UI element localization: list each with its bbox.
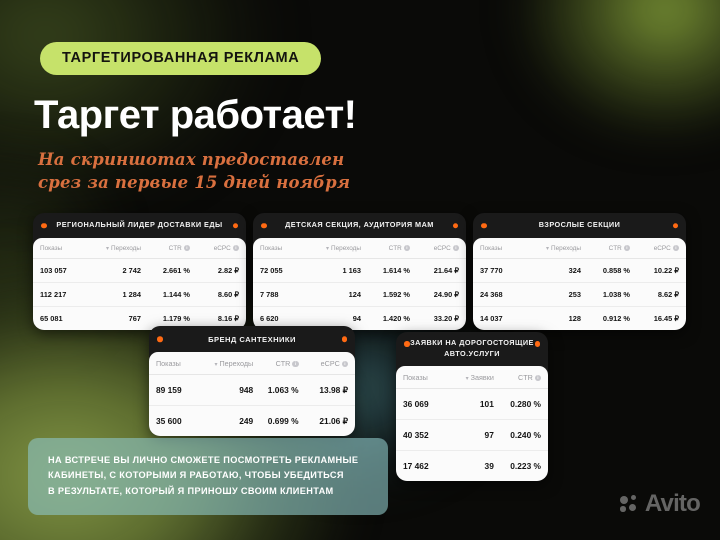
stats-table: Показы ▾Переходы CTRi eCPCi 89 159 948 1… [149,352,355,436]
cell-ecpc: 16.45 ₽ [637,307,686,331]
cell-impressions: 35 600 [149,406,203,437]
stats-card-plumbing-brand: БРЕНД САНТЕХНИКИ Показы ▾Переходы CTRi e… [149,326,355,436]
cell-ctr: 1.063 % [260,375,305,406]
col-ecpc[interactable]: eCPCi [197,238,246,259]
table-header-row: Показы ▾Переходы CTRi eCPCi [253,238,466,259]
cell-impressions: 36 069 [396,389,451,420]
cell-ecpc: 21.64 ₽ [417,259,466,283]
col-impressions[interactable]: Показы [396,366,451,389]
card-title-line2: АВТО.УСЛУГИ [444,349,500,360]
accent-dot-right-icon [673,223,679,229]
cell-ecpc: 8.60 ₽ [197,283,246,307]
card-title: РЕГИОНАЛЬНЫЙ ЛИДЕР ДОСТАВКИ ЕДЫ [56,220,222,231]
cell-leads: 39 [451,451,501,482]
cell-ctr: 0.280 % [501,389,548,420]
info-icon: i [404,245,410,251]
table-row: 35 600 249 0.699 % 21.06 ₽ [149,406,355,437]
col-impressions[interactable]: Показы [253,238,311,259]
cell-ctr: 1.038 % [588,283,637,307]
col-clicks[interactable]: ▾Переходы [203,352,261,375]
stats-card-kids-section: ДЕТСКАЯ СЕКЦИЯ, АУДИТОРИЯ МАМ Показы ▾Пе… [253,213,466,330]
table-row: 7 788 124 1.592 % 24.90 ₽ [253,283,466,307]
table-row: 14 037 128 0.912 % 16.45 ₽ [473,307,686,331]
background-glow-top-right [515,0,720,140]
cell-ctr: 0.858 % [588,259,637,283]
avito-logo-icon [620,495,640,513]
cell-impressions: 40 352 [396,420,451,451]
category-badge: ТАРГЕТИРОВАННАЯ РЕКЛАМА [40,42,321,75]
info-icon: i [624,245,630,251]
stats-table: Показы ▾Заявки CTRi 36 069 101 0.280 % 4… [396,366,548,481]
col-impressions[interactable]: Показы [473,238,531,259]
col-leads[interactable]: ▾Заявки [451,366,501,389]
col-impressions[interactable]: Показы [33,238,91,259]
cell-ctr: 0.699 % [260,406,305,437]
cell-clicks: 128 [531,307,589,331]
table-row: 89 159 948 1.063 % 13.98 ₽ [149,375,355,406]
cell-leads: 97 [451,420,501,451]
table-row: 36 069 101 0.280 % [396,389,548,420]
table-header-row: Показы ▾Переходы CTRi eCPCi [33,238,246,259]
card-header: ЗАЯВКИ НА ДОРОГОСТОЯЩИЕ АВТО.УСЛУГИ [396,332,548,366]
info-icon: i [292,361,298,367]
cell-leads: 101 [451,389,501,420]
cell-ctr: 0.240 % [501,420,548,451]
cell-ecpc: 13.98 ₽ [306,375,355,406]
cell-ecpc: 8.62 ₽ [637,283,686,307]
cell-ecpc: 24.90 ₽ [417,283,466,307]
sort-caret-icon: ▾ [466,376,469,382]
slide-root: ТАРГЕТИРОВАННАЯ РЕКЛАМА Таргет работает!… [0,0,720,540]
table-row: 37 770 324 0.858 % 10.22 ₽ [473,259,686,283]
cell-impressions: 65 081 [33,307,91,331]
stats-card-food-delivery: РЕГИОНАЛЬНЫЙ ЛИДЕР ДОСТАВКИ ЕДЫ Показы ▾… [33,213,246,330]
accent-dot-right-icon [535,341,541,347]
avito-wordmark: Avito [645,492,700,516]
card-header: ДЕТСКАЯ СЕКЦИЯ, АУДИТОРИЯ МАМ [253,213,466,238]
cell-impressions: 72 055 [253,259,311,283]
cell-clicks: 324 [531,259,589,283]
subtitle-note: На скриншотах предоставлен срез за первы… [38,148,350,195]
avito-watermark: Avito [620,492,700,516]
accent-dot-left-icon [157,336,163,342]
col-impressions[interactable]: Показы [149,352,203,375]
cell-impressions: 17 462 [396,451,451,482]
card-header: БРЕНД САНТЕХНИКИ [149,326,355,352]
sort-caret-icon: ▾ [106,246,109,252]
cell-ctr: 0.223 % [501,451,548,482]
cell-ecpc: 2.82 ₽ [197,259,246,283]
col-clicks[interactable]: ▾Переходы [531,238,589,259]
cell-clicks: 1 284 [91,283,149,307]
cell-clicks: 2 742 [91,259,149,283]
cell-impressions: 103 057 [33,259,91,283]
cell-clicks: 249 [203,406,261,437]
accent-dot-right-icon [342,336,348,342]
card-title: БРЕНД САНТЕХНИКИ [208,334,296,345]
cell-impressions: 24 368 [473,283,531,307]
col-ecpc[interactable]: eCPCi [637,238,686,259]
stats-table: Показы ▾Переходы CTRi eCPCi 72 055 1 163… [253,238,466,330]
sort-caret-icon: ▾ [546,246,549,252]
accent-dot-left-icon [41,223,47,229]
stats-table: Показы ▾Переходы CTRi eCPCi 103 057 2 74… [33,238,246,330]
card-header: РЕГИОНАЛЬНЫЙ ЛИДЕР ДОСТАВКИ ЕДЫ [33,213,246,238]
accent-dot-left-icon [481,223,487,229]
info-icon: i [342,361,348,367]
stats-table: Показы ▾Переходы CTRi eCPCi 37 770 324 0… [473,238,686,330]
accent-dot-right-icon [233,223,239,229]
stats-card-auto-services: ЗАЯВКИ НА ДОРОГОСТОЯЩИЕ АВТО.УСЛУГИ Пока… [396,332,548,481]
table-row: 24 368 253 1.038 % 8.62 ₽ [473,283,686,307]
cell-clicks: 1 163 [311,259,369,283]
table-row: 72 055 1 163 1.614 % 21.64 ₽ [253,259,466,283]
table-header-row: Показы ▾Переходы CTRi eCPCi [149,352,355,375]
card-title: ДЕТСКАЯ СЕКЦИЯ, АУДИТОРИЯ МАМ [285,220,434,231]
accent-dot-right-icon [453,223,459,229]
col-clicks[interactable]: ▾Переходы [311,238,369,259]
sort-caret-icon: ▾ [326,246,329,252]
info-icon: i [673,245,679,251]
cell-clicks: 124 [311,283,369,307]
sort-caret-icon: ▾ [214,362,217,368]
footer-banner: НА ВСТРЕЧЕ ВЫ ЛИЧНО СМОЖЕТЕ ПОСМОТРЕТЬ Р… [28,438,388,515]
col-clicks[interactable]: ▾Переходы [91,238,149,259]
card-title-line1: ЗАЯВКИ НА ДОРОГОСТОЯЩИЕ [410,338,534,349]
stats-card-adult-sections: ВЗРОСЛЫЕ СЕКЦИИ Показы ▾Переходы CTRi eC… [473,213,686,330]
cell-clicks: 767 [91,307,149,331]
accent-dot-left-icon [404,341,410,347]
cell-ecpc: 33.20 ₽ [417,307,466,331]
cell-impressions: 112 217 [33,283,91,307]
col-ecpc[interactable]: eCPCi [417,238,466,259]
col-ecpc[interactable]: eCPCi [306,352,355,375]
cell-impressions: 14 037 [473,307,531,331]
col-ctr[interactable]: CTRi [368,238,417,259]
col-ctr[interactable]: CTRi [588,238,637,259]
info-icon: i [535,375,541,381]
col-ctr[interactable]: CTRi [501,366,548,389]
cell-impressions: 89 159 [149,375,203,406]
cell-impressions: 37 770 [473,259,531,283]
col-ctr[interactable]: CTRi [148,238,197,259]
info-icon: i [453,245,459,251]
info-icon: i [233,245,239,251]
cell-ctr: 0.912 % [588,307,637,331]
cell-ctr: 2.661 % [148,259,197,283]
col-ctr[interactable]: CTRi [260,352,305,375]
card-title: ВЗРОСЛЫЕ СЕКЦИИ [539,220,621,231]
accent-dot-left-icon [261,223,267,229]
table-row: 40 352 97 0.240 % [396,420,548,451]
table-row: 103 057 2 742 2.661 % 2.82 ₽ [33,259,246,283]
cell-ecpc: 21.06 ₽ [306,406,355,437]
cell-ctr: 1.614 % [368,259,417,283]
info-icon: i [184,245,190,251]
cell-ctr: 1.592 % [368,283,417,307]
table-header-row: Показы ▾Заявки CTRi [396,366,548,389]
cell-impressions: 7 788 [253,283,311,307]
table-header-row: Показы ▾Переходы CTRi eCPCi [473,238,686,259]
page-title: Таргет работает! [34,94,357,136]
cell-clicks: 948 [203,375,261,406]
table-row: 17 462 39 0.223 % [396,451,548,482]
cell-clicks: 253 [531,283,589,307]
card-header: ВЗРОСЛЫЕ СЕКЦИИ [473,213,686,238]
cell-ctr: 1.144 % [148,283,197,307]
table-row: 112 217 1 284 1.144 % 8.60 ₽ [33,283,246,307]
category-badge-label: ТАРГЕТИРОВАННАЯ РЕКЛАМА [62,50,299,66]
cell-ecpc: 10.22 ₽ [637,259,686,283]
cell-ctr: 1.420 % [368,307,417,331]
